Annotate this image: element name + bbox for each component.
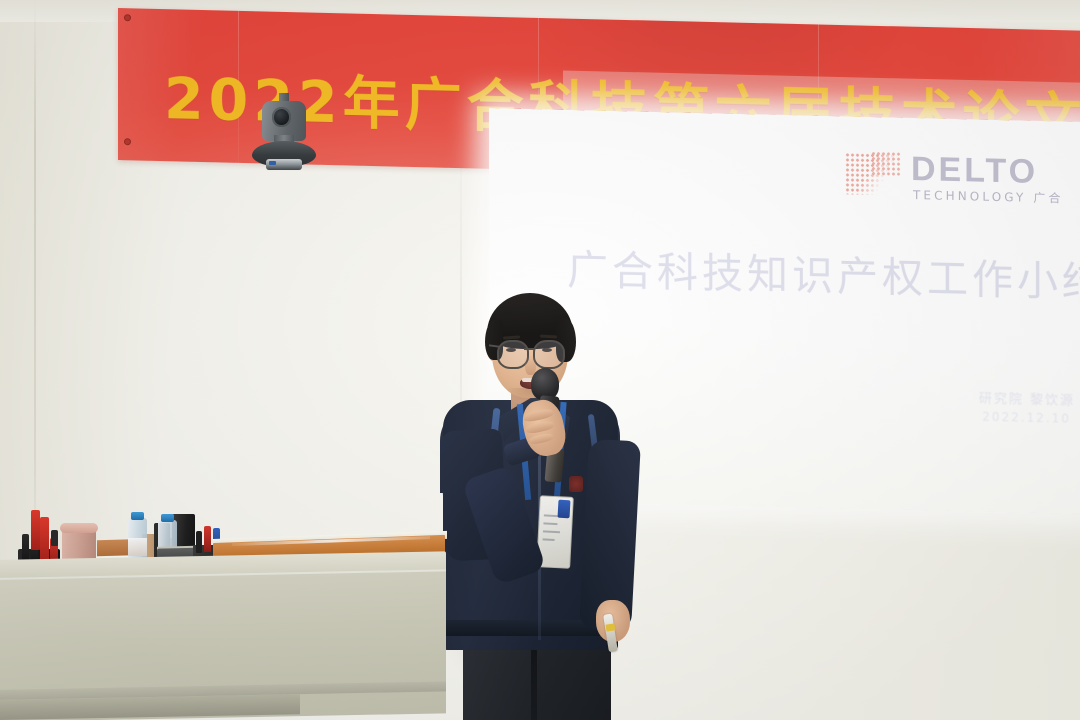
bottle-cap [161,514,174,522]
marker-black [51,530,58,546]
bottle-cap [131,512,144,520]
trouser-crease [531,648,537,720]
pen-red [204,526,211,552]
pen-black [196,531,202,553]
marker-red [31,510,40,550]
laser-pointer-button [606,623,616,631]
pink-container-lid [60,523,98,533]
eyeglasses-bridge [524,348,535,350]
marker-red [40,517,49,563]
eyeglasses-lens-right [533,340,565,369]
microphone-logo [569,476,583,492]
badge-blue-clip [558,500,571,519]
presentation-photo-scene: 2022年广合科技第六届技术论文评审暨知 DELTO TECHNOLOGY 广合… [0,0,1080,720]
bottle-label [128,538,147,556]
